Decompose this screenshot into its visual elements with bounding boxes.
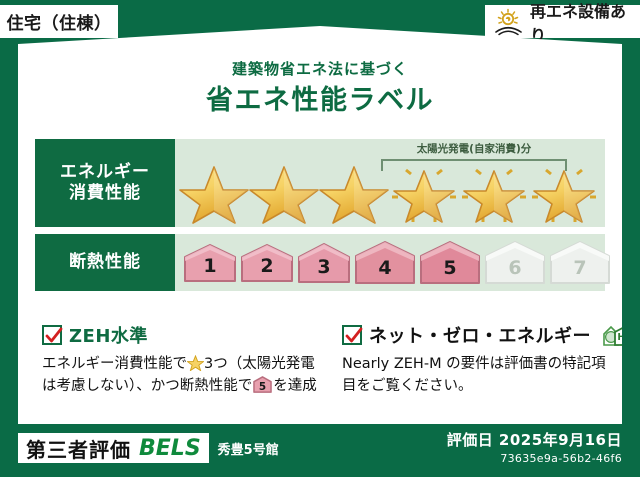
- svg-text:5: 5: [259, 382, 266, 394]
- energy-performance-label: 住宅（住棟） 再エネ設備あり 建: [0, 0, 640, 477]
- insulation-level-2: 2: [240, 243, 294, 283]
- note-zeh-text-1: エネルギー消費性能で: [42, 356, 187, 372]
- star-solar-5: [459, 161, 529, 225]
- note-zeh-standard: ZEH水準 エネルギー消費性能で 3つ（太陽光発電 は考慮しない）、かつ断熱性能…: [42, 322, 330, 398]
- renewable-badge-text: 再エネ設備あり: [530, 0, 640, 46]
- zeh-m-logo-icon: H-M Nearly ZEH-M: [600, 322, 640, 348]
- energy-performance-panel: 太陽光発電(自家消費)分: [175, 139, 605, 227]
- insulation-level-7-number: 7: [549, 257, 611, 279]
- insulation-level-7: 7: [549, 240, 611, 285]
- insulation-level-4-number: 4: [354, 257, 416, 279]
- insulation-level-1-number: 1: [183, 255, 237, 277]
- energy-label-line1: エネルギー: [60, 162, 150, 183]
- bels-logo-text: BELS: [139, 436, 201, 461]
- footer-left: 第三者評価 BELS 秀豊5号館: [18, 433, 279, 463]
- insulation-level-5: 5: [419, 240, 481, 285]
- star-solar-6: [529, 161, 599, 225]
- star-filled-3: [319, 161, 389, 225]
- note-zeh-text-3: は考慮しない）、かつ断熱性能で: [42, 378, 252, 394]
- star-filled-1: [179, 161, 249, 225]
- note-zeh-text-2: 3つ（太陽光発電: [204, 356, 315, 372]
- star-filled-2: [249, 161, 319, 225]
- checkbox-zeh-standard[interactable]: [42, 325, 62, 345]
- insulation-level-5-number: 5: [419, 257, 481, 279]
- note-zeh-text-4: を達成: [273, 378, 317, 394]
- insulation-label-text: 断熱性能: [69, 252, 141, 273]
- insulation-level-3: 3: [297, 242, 351, 284]
- note-zeh-body: エネルギー消費性能で 3つ（太陽光発電 は考慮しない）、かつ断熱性能で 5 を達…: [42, 353, 330, 398]
- note-zeh-header: ZEH水準: [42, 322, 330, 348]
- insulation-performance-panel: 1 2 3: [175, 234, 605, 291]
- insulation-performance-label-block: 断熱性能: [35, 234, 175, 291]
- insulation-performance-row: 断熱性能 1: [35, 234, 605, 291]
- energy-performance-row: エネルギー 消費性能 太陽光発電(自家消費)分: [35, 139, 605, 227]
- insulation-level-6: 6: [484, 240, 546, 285]
- note-nze-header: ネット・ゼロ・エネルギー H-M Nearly ZEH-M: [342, 322, 630, 348]
- note-nze-body: Nearly ZEH-M の要件は評価書の特記項 目をご覧ください。: [342, 353, 630, 398]
- note-nze-title: ネット・ゼロ・エネルギー: [369, 322, 591, 348]
- insulation-level-4: 4: [354, 240, 416, 285]
- note-nze-text-2: 目をご覧ください。: [342, 378, 473, 394]
- star-rating: [175, 139, 605, 227]
- evaluation-id: 73635e9a-56b2-46f6: [447, 452, 622, 465]
- bels-badge: 第三者評価 BELS: [18, 433, 209, 463]
- third-party-eval-label: 第三者評価: [26, 434, 131, 463]
- energy-label-line2: 消費性能: [69, 183, 141, 204]
- page-title: 省エネ性能ラベル: [18, 78, 622, 117]
- inline-star-icon: [187, 355, 204, 371]
- notes-section: ZEH水準 エネルギー消費性能で 3つ（太陽光発電 は考慮しない）、かつ断熱性能…: [42, 322, 632, 398]
- insulation-level-scale: 1 2 3: [175, 234, 605, 291]
- note-nze-text-1: Nearly ZEH-M の要件は評価書の特記項: [342, 356, 606, 372]
- label-card: 建築物省エネ法に基づく 省エネ性能ラベル エネルギー 消費性能 太陽光発電(自家…: [18, 26, 622, 424]
- inline-house-badge: 5: [252, 376, 273, 394]
- svg-text:H-M: H-M: [617, 332, 638, 343]
- insulation-level-6-number: 6: [484, 257, 546, 279]
- building-type-text: 住宅（住棟）: [7, 9, 112, 34]
- footer-right: 評価日 2025年9月16日 73635e9a-56b2-46f6: [447, 429, 622, 465]
- evaluation-date: 評価日 2025年9月16日: [447, 429, 622, 450]
- energy-performance-label-block: エネルギー 消費性能: [35, 139, 175, 227]
- note-net-zero-energy: ネット・ゼロ・エネルギー H-M Nearly ZEH-M Nearly: [342, 322, 630, 398]
- insulation-level-2-number: 2: [240, 255, 294, 277]
- building-name: 秀豊5号館: [218, 439, 279, 458]
- sun-icon: [493, 8, 525, 36]
- note-zeh-title: ZEH水準: [69, 322, 148, 348]
- checkbox-net-zero-energy[interactable]: [342, 325, 362, 345]
- insulation-level-3-number: 3: [297, 256, 351, 278]
- insulation-level-1: 1: [183, 243, 237, 283]
- building-type-badge: 住宅（住棟）: [0, 5, 118, 38]
- star-solar-4: [389, 161, 459, 225]
- label-subtitle: 建築物省エネ法に基づく: [18, 58, 622, 79]
- renewable-equipment-badge: 再エネ設備あり: [485, 5, 640, 38]
